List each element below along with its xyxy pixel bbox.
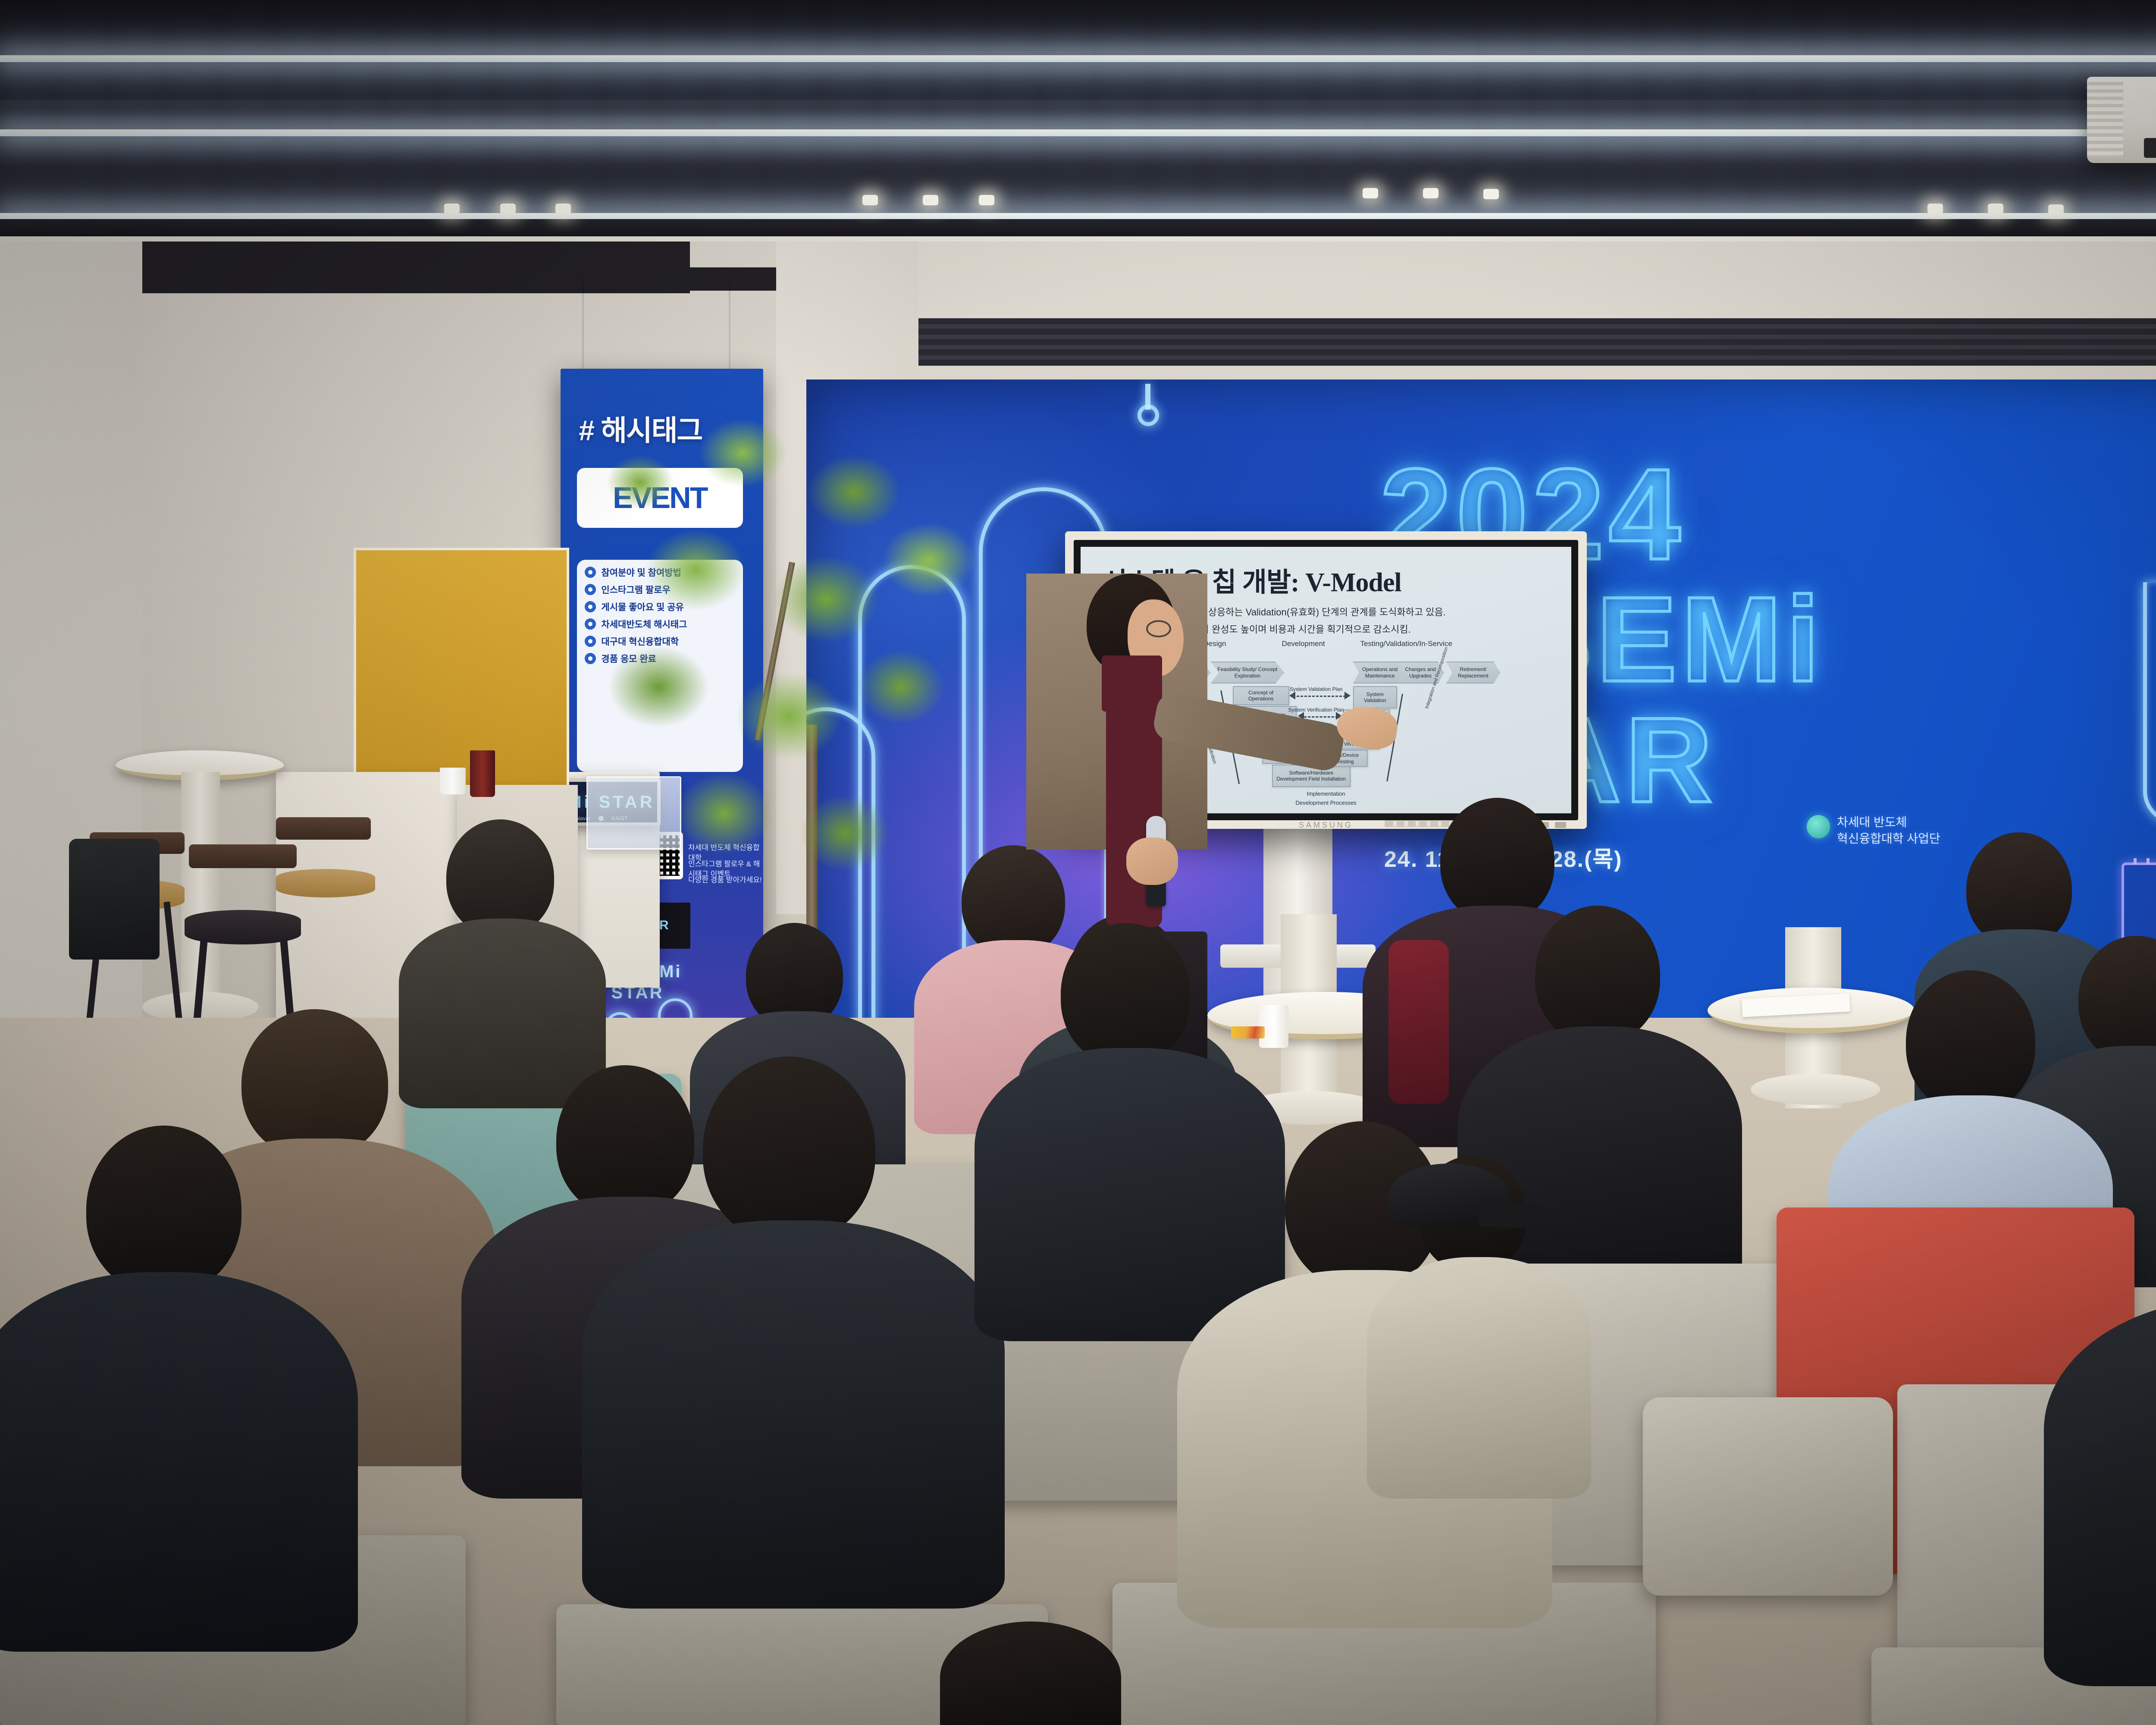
organizer-name-line2: 혁신융합대학 사업단 — [1837, 831, 1940, 847]
front-5-head — [1061, 923, 1190, 1065]
bar-stool-3-back — [276, 817, 371, 840]
downlight-15 — [1483, 189, 1499, 199]
person-9-head — [1906, 970, 2035, 1113]
ceiling-rail-3 — [0, 219, 2156, 237]
ottoman-cream — [1643, 1397, 1893, 1596]
vmodel-label-system-verification-plan: System Verification Plan — [1277, 707, 1355, 713]
downlight-7 — [862, 195, 878, 205]
person-5-head — [1440, 798, 1554, 923]
front-1-head — [241, 1009, 388, 1158]
presenter-left-hand — [1126, 837, 1178, 885]
conference-room-photo: EPSON ●● ●●●●●●●● ●● 2024 — [0, 0, 2156, 1725]
ceiling-light-strip-1 — [0, 55, 2156, 62]
snack-packet-on-table-1 — [1231, 1026, 1265, 1038]
chip-pin-1 — [2134, 858, 2137, 864]
vmodel-box-retirement-replacement: Retirement/ Replacement — [1446, 662, 1500, 684]
vmodel-connector-2 — [1304, 716, 1338, 718]
vmodel-box-feasibility-study: Feasibility Study/ Concept Exploration — [1211, 662, 1285, 684]
neon-arc-right-1 — [2143, 582, 2156, 824]
front-2-body — [0, 1272, 358, 1652]
power-port-icon — [1555, 822, 1566, 828]
vmodel-phase-development: Development — [1282, 640, 1325, 648]
ceiling-rail-1 — [0, 100, 2156, 115]
bar-stool-2-back — [189, 844, 297, 868]
downlight-14 — [1423, 188, 1438, 198]
ceiling-rail-2 — [0, 172, 2156, 211]
downlight-13 — [1363, 188, 1378, 198]
person-1-body — [399, 919, 606, 1108]
person-6-head — [1535, 906, 1660, 1044]
vmodel-arrow-left-1 — [1289, 692, 1295, 699]
front-3-head — [556, 1065, 694, 1216]
downlight-4 — [444, 204, 460, 214]
ceiling-light-strip-3 — [0, 213, 2156, 219]
downlight-11 — [1988, 204, 2003, 214]
backpack-on-stool — [69, 839, 160, 960]
downlight-10 — [1927, 204, 1943, 214]
floor-sign-holder — [586, 776, 681, 850]
cap-brim — [1479, 1203, 1548, 1227]
front-4-head — [703, 1057, 875, 1242]
vmodel-label-system-validation-plan: System Validation Plan — [1277, 686, 1355, 692]
vmodel-connector-1 — [1297, 696, 1346, 697]
wall-slat-band — [918, 318, 2156, 366]
projector-vent-fins — [2087, 82, 2123, 158]
organizer-logo-icon — [1807, 815, 1830, 838]
downlight-5 — [500, 204, 516, 214]
downlight-6 — [555, 204, 571, 214]
vmodel-phase-testing: Testing/Validation/In-Service — [1360, 640, 1452, 648]
front-7-body — [1367, 1257, 1591, 1499]
front-5-body — [975, 1048, 1285, 1341]
ceiling-light-strip-2 — [0, 129, 2156, 136]
presenter — [1026, 574, 1207, 850]
downlight-12 — [2048, 204, 2064, 215]
downlight-9 — [979, 195, 994, 205]
front-2-head — [86, 1126, 241, 1294]
front-4-body — [582, 1220, 1005, 1609]
display-brand-label: SAMSUNG — [1299, 821, 1353, 830]
downlight-8 — [923, 195, 938, 205]
vmodel-arrow-right-1 — [1344, 692, 1351, 699]
bar-stool-3-seat — [276, 869, 375, 897]
organizer-name-line1: 차세대 반도체 — [1837, 814, 1907, 831]
neon-stem-top — [1145, 384, 1150, 410]
projector-lens — [2144, 138, 2156, 158]
vmodel-box-system-validation: System Validation — [1353, 686, 1397, 708]
person-5-jacket-stripe — [1388, 940, 1449, 1104]
drink-cup-on-cabinet — [470, 750, 495, 797]
mug-on-cabinet — [440, 768, 466, 794]
chip-pin-2 — [2147, 858, 2150, 864]
glasses-icon — [1146, 620, 1171, 637]
event-table-2-base — [1751, 1074, 1880, 1105]
projector-epson: EPSON — [2087, 77, 2156, 163]
